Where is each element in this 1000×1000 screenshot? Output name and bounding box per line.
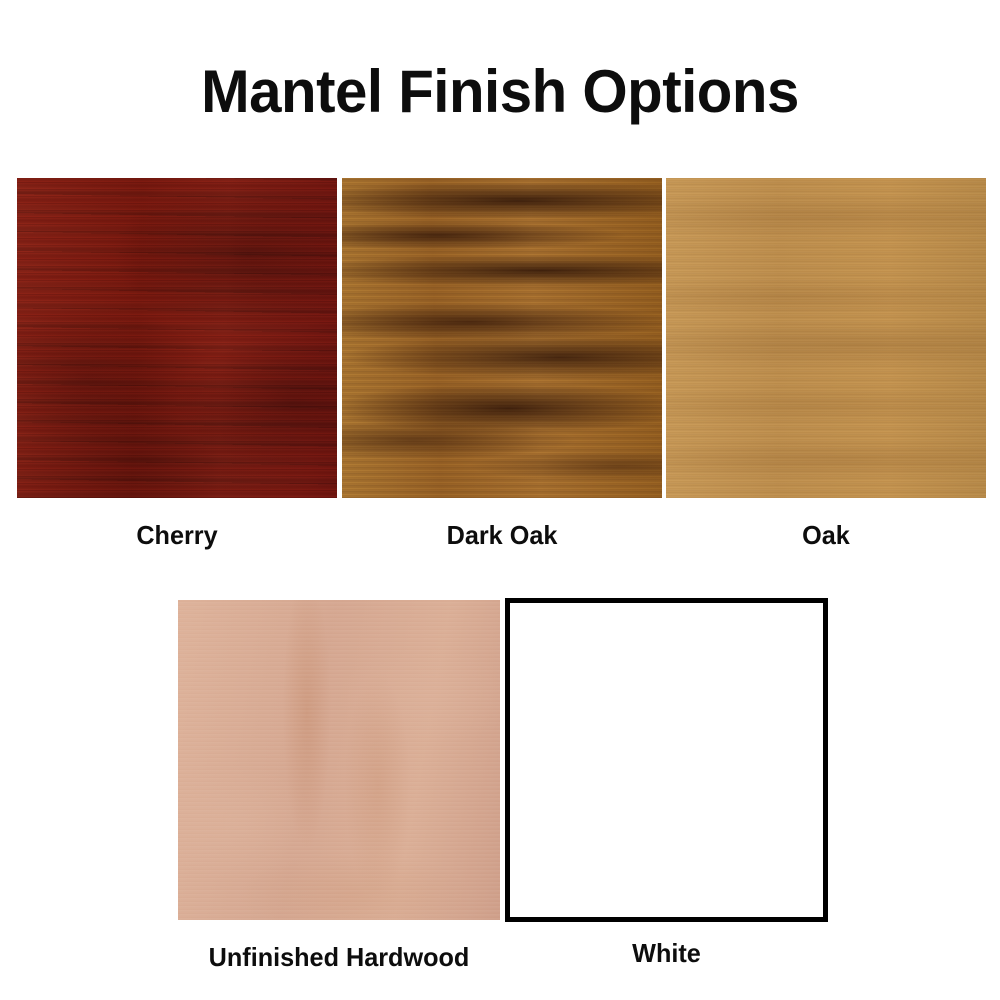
oak-swatch-texture[interactable]: [666, 178, 986, 498]
swatch-label-oak: Oak: [613, 522, 1000, 548]
swatch-label-white: White: [452, 940, 882, 966]
swatch-cell-dark-oak[interactable]: Dark Oak: [342, 178, 662, 498]
finish-swatch-grid: Cherry Dark Oak Oak Unfinished Hardwood …: [0, 0, 1000, 1000]
dark-oak-swatch-texture[interactable]: [342, 178, 662, 498]
cherry-swatch-texture[interactable]: [17, 178, 337, 498]
swatch-cell-oak[interactable]: Oak: [666, 178, 986, 498]
swatch-cell-white[interactable]: White: [505, 598, 828, 922]
swatch-cell-cherry[interactable]: Cherry: [17, 178, 337, 498]
white-swatch-texture[interactable]: [505, 598, 828, 922]
unfinished-hardwood-swatch-texture[interactable]: [178, 600, 500, 920]
swatch-cell-unfinished-hardwood[interactable]: Unfinished Hardwood: [178, 600, 500, 920]
